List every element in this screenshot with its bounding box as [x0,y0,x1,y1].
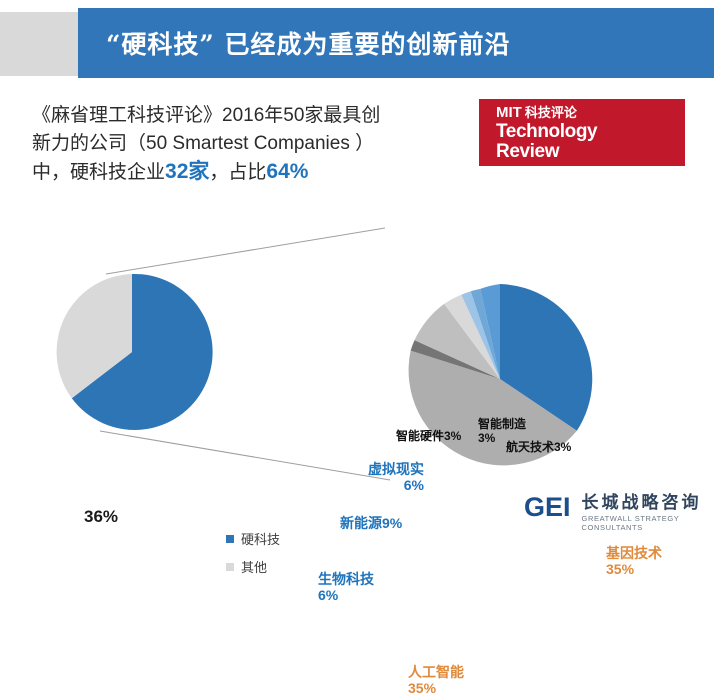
label-vr-name: 虚拟现实 [368,461,424,477]
legend-item-other: 其他 [226,557,280,576]
label-bio-tech-pct: 6% [318,587,338,603]
gei-logo: GEI 长城战略咨询 GREATWALL STRATEGY CONSULTANT… [524,494,714,532]
intro-line-3-prefix: 中，硬科技企业 [32,162,165,183]
intro-line-1: 《麻省理工科技评论》2016年50家最具创 [32,105,380,126]
gei-logo-mark: GEI [524,494,571,521]
label-vr: 虚拟现实 6% [368,461,424,493]
mit-logo-review: Review [496,142,597,161]
label-bio-tech: 生物科技 6% [318,571,374,603]
mit-logo-technology: Technology [496,122,597,141]
label-ai: 人工智能 35% [408,664,464,696]
mit-logo-mit: MIT [496,104,522,121]
left-pie-svg [48,268,216,436]
label-gene-tech-pct: 35% [606,561,634,577]
legend-swatch-other [226,563,234,571]
left-pie-legend: 硬科技 其他 [226,529,280,585]
left-pie-chart [48,268,216,436]
gei-logo-chinese-name: 长城战略咨询 [582,494,714,512]
highlight-percentage: 64% [266,160,308,183]
left-pie-value-hard-tech: 64% [152,533,194,557]
legend-item-hard-tech: 硬科技 [226,529,280,548]
label-aerospace: 航天技术3% [506,441,571,455]
intro-paragraph: 《麻省理工科技评论》2016年50家最具创 新力的公司（50 Smartest … [32,102,442,188]
label-smart-hardware: 智能硬件3% [396,430,461,444]
slide-title-bar: “硬科技” 已经成为重要的创新前沿 [78,8,714,78]
mit-logo-line-1: MIT科技评论 [496,105,597,120]
mit-logo-chinese: 科技评论 [525,105,577,120]
title-accent-block [0,12,78,76]
label-ai-pct: 35% [408,680,436,696]
charts-area: 64% 36% 硬科技 其他 智能硬件3% 智能制造 3% 航天技术3 [0,190,714,541]
mit-technology-review-logo: MIT科技评论 Technology Review [479,99,685,166]
intro-line-2: 新力的公司（50 Smartest Companies ） [32,133,374,154]
label-smart-manufacturing-name: 智能制造 [478,417,526,431]
legend-label-other: 其他 [241,557,267,576]
intro-line-3-mid: ，占比 [209,162,266,183]
label-vr-pct: 6% [404,477,424,493]
legend-swatch-hard-tech [226,535,234,543]
gei-logo-english-name: GREATWALL STRATEGY CONSULTANTS [582,514,714,532]
label-bio-tech-name: 生物科技 [318,571,374,587]
left-pie-value-other: 36% [84,507,118,527]
page-title: “硬科技” 已经成为重要的创新前沿 [106,25,510,61]
label-gene-tech-name: 基因技术 [606,545,662,561]
label-gene-tech: 基因技术 35% [606,545,662,577]
highlight-company-count: 32家 [165,160,209,183]
label-smart-manufacturing-pct: 3% [478,431,495,445]
label-new-energy: 新能源9% [340,515,402,531]
legend-label-hard-tech: 硬科技 [241,529,280,548]
label-ai-name: 人工智能 [408,664,464,680]
